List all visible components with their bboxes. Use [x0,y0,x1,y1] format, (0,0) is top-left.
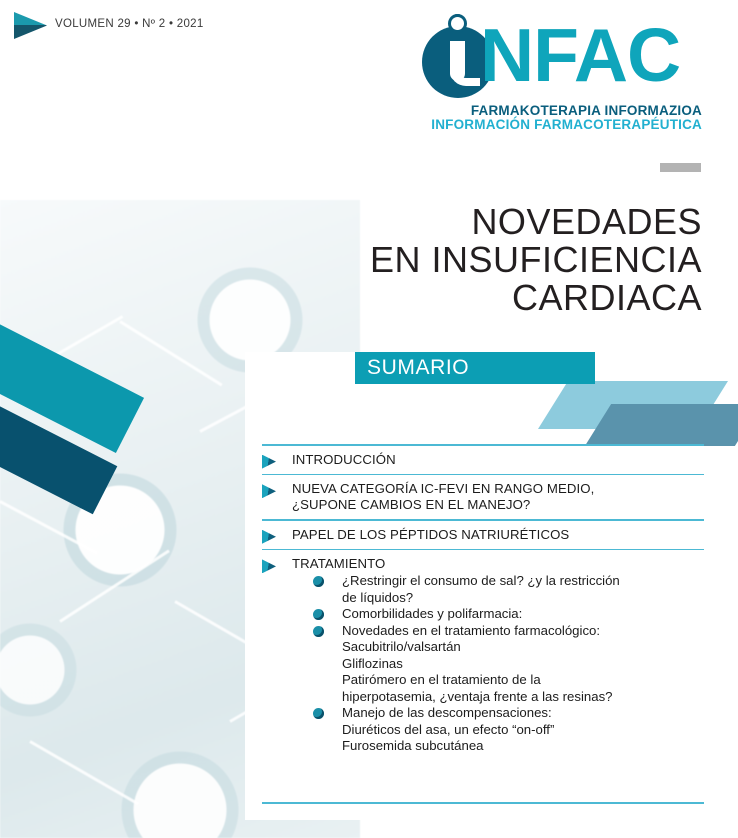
toc-triangle-right-icon [262,455,276,469]
toc-triangle-right-icon [262,530,276,544]
volume-line: VOLUMEN 29 • Nº 2 • 2021 [55,18,204,30]
toc-sub-item[interactable]: Manejo de las descompensaciones:Diurétic… [292,705,704,755]
toc-sub-detail-line: Diuréticos del asa, un efecto “on-off” [342,722,704,739]
infac-logo: NFAC FARMAKOTERAPIA INFORMAZIOA INFORMAC… [420,16,720,126]
toc-entry-label-line-2: ¿SUPONE CAMBIOS EN EL MANEJO? [292,497,704,513]
toc-sub-detail-line: Gliflozinas [342,656,704,673]
toc-sub-item[interactable]: Novedades en el tratamiento farmacológic… [292,623,704,706]
page-title-line-1: NOVEDADES [182,203,702,241]
logo-wordmark: NFAC [480,18,680,93]
toc-sub-item-label-line-2: de líquidos? [342,590,704,607]
toc-sub-item-label: ¿Restringir el consumo de sal? ¿y la res… [342,573,620,588]
toc-sub-detail-line: Furosemida subcutánea [342,738,704,755]
toc-sub-detail-line: Patirómero en el tratamiento de la [342,672,704,689]
bullet-dot-icon [313,576,324,587]
logo-subtitle-basque: FARMAKOTERAPIA INFORMAZIOA [471,103,702,118]
page-title: NOVEDADES EN INSUFICIENCIA CARDIACA [182,203,702,317]
bullet-dot-icon [313,609,324,620]
logo-i-dot-icon [451,17,464,30]
toc-entry-label: TRATAMIENTO [292,556,704,572]
toc-triangle-right-icon [262,484,276,498]
toc-bottom-rule [262,802,704,804]
toc-sub-list: ¿Restringir el consumo de sal? ¿y la res… [292,573,704,755]
summary-banner: SUMARIO [355,352,595,384]
page-title-line-3: CARDIACA [182,279,702,317]
toc-sub-item-label: Manejo de las descompensaciones: [342,705,552,720]
decorative-band-right-steel [585,404,738,446]
page-title-line-2: EN INSUFICIENCIA [182,241,702,279]
bullet-dot-icon [313,708,324,719]
gray-dash-divider [660,163,701,172]
toc-entry-label: PAPEL DE LOS PÉPTIDOS NATRIURÉTICOS [292,527,704,543]
toc-entry[interactable]: TRATAMIENTO¿Restringir el consumo de sal… [262,550,704,761]
summary-banner-label: SUMARIO [367,356,469,380]
toc-entry[interactable]: INTRODUCCIÓN [262,446,704,474]
toc-sub-item-label: Novedades en el tratamiento farmacológic… [342,623,600,638]
toc-sub-item[interactable]: ¿Restringir el consumo de sal? ¿y la res… [292,573,704,606]
document-page: VOLUMEN 29 • Nº 2 • 2021 NFAC FARMAKOTER… [0,0,738,838]
toc-entry[interactable]: NUEVA CATEGORÍA IC-FEVI EN RANGO MEDIO,¿… [262,475,704,519]
toc-sub-item[interactable]: Comorbilidades y polifarmacia: [292,606,704,623]
table-of-contents: INTRODUCCIÓNNUEVA CATEGORÍA IC-FEVI EN R… [262,444,704,761]
toc-sub-detail-line: hiperpotasemia, ¿ventaja frente a las re… [342,689,704,706]
toc-entry-label: NUEVA CATEGORÍA IC-FEVI EN RANGO MEDIO,¿… [292,481,704,513]
toc-entry-label: INTRODUCCIÓN [292,452,704,468]
logo-subtitle-spanish: INFORMACIÓN FARMACOTERAPÉUTICA [431,117,702,132]
volume-triangle-icon [14,12,47,39]
toc-triangle-right-icon [262,559,276,573]
toc-entry[interactable]: PAPEL DE LOS PÉPTIDOS NATRIURÉTICOS [262,521,704,549]
toc-sub-item-label: Comorbilidades y polifarmacia: [342,606,522,621]
toc-sub-detail-line: Sacubitrilo/valsartán [342,639,704,656]
bullet-dot-icon [313,626,324,637]
